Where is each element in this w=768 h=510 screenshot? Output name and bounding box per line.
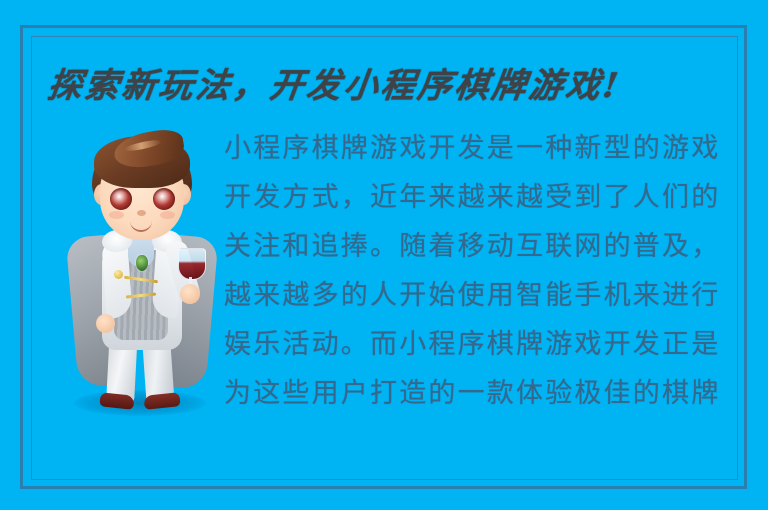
lapel-pin-icon	[114, 270, 123, 279]
gem-brooch-icon	[136, 255, 148, 271]
body-line: 娱乐活动。而小程序棋牌游戏开发正是	[224, 320, 740, 369]
character-shadow	[74, 390, 206, 416]
poster-canvas: 探索新玩法，开发小程序棋牌游戏! 小程序棋牌游戏开发是一种新型的游戏 开发方式，…	[0, 0, 768, 510]
cheek-left	[109, 211, 124, 219]
page-title: 探索新玩法，开发小程序棋牌游戏!	[45, 58, 711, 110]
wine-glass-icon	[178, 248, 206, 280]
body-line: 越来越多的人开始使用智能手机来进行	[224, 271, 740, 320]
nose	[137, 210, 146, 216]
eye-right	[153, 188, 175, 210]
body-line: 小程序棋牌游戏开发是一种新型的游戏	[224, 124, 740, 173]
body-line: 开发方式，近年来越来越受到了人们的	[224, 173, 740, 222]
eye-left	[110, 188, 132, 210]
character-illustration	[52, 118, 228, 420]
hand-left	[96, 314, 115, 333]
body-line: 关注和追捧。随着移动互联网的普及，	[224, 222, 740, 271]
cheek-right	[160, 211, 175, 219]
hand-right	[180, 284, 200, 304]
body-line: 为这些用户打造的一款体验极佳的棋牌	[224, 369, 740, 418]
body-paragraph: 小程序棋牌游戏开发是一种新型的游戏 开发方式，近年来越来越受到了人们的 关注和追…	[224, 124, 740, 418]
